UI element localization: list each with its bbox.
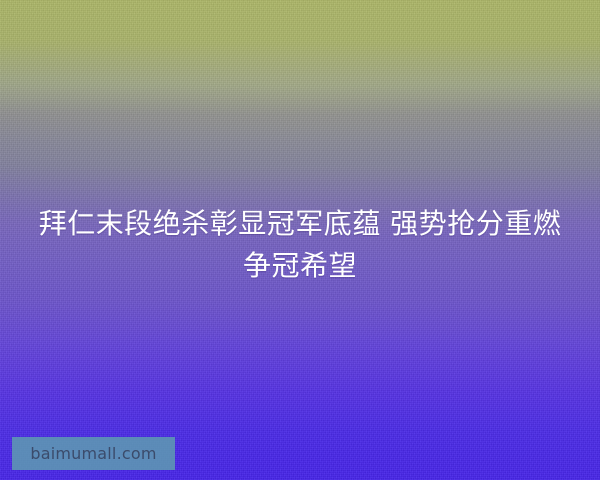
headline-text: 拜仁末段绝杀彰显冠军底蕴 强势抢分重燃争冠希望 — [0, 203, 600, 287]
watermark-label: baimumall.com — [30, 446, 156, 462]
image-canvas: 拜仁末段绝杀彰显冠军底蕴 强势抢分重燃争冠希望 baimumall.com — [0, 0, 600, 480]
watermark-badge: baimumall.com — [12, 437, 175, 470]
